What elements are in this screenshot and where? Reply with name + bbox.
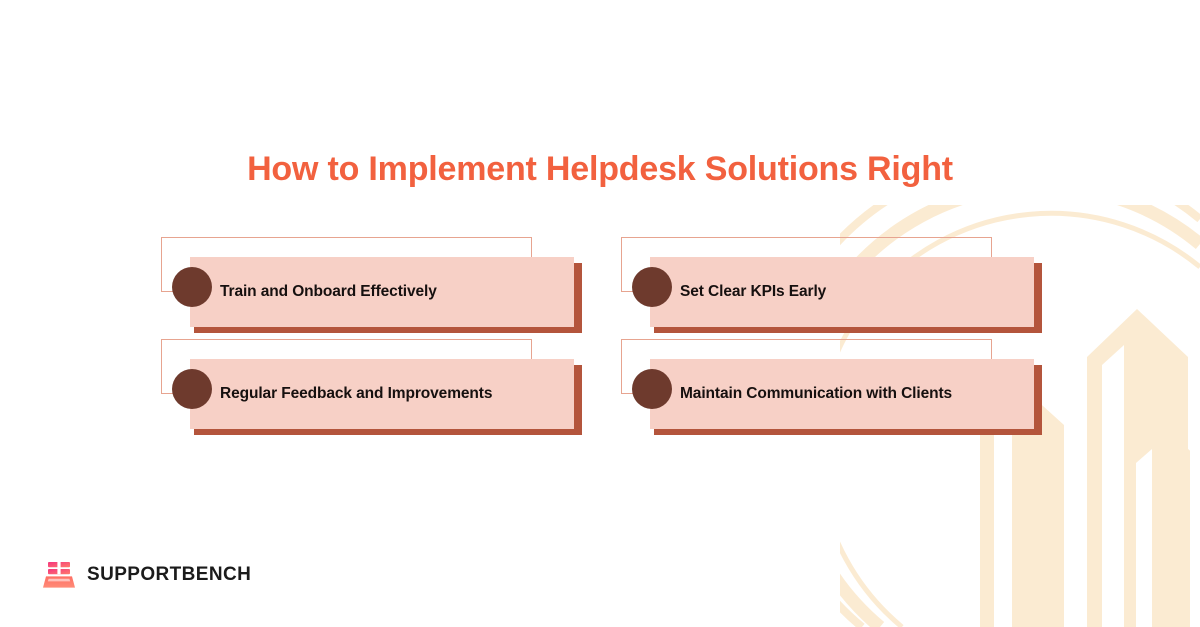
card-label: Set Clear KPIs Early [680, 257, 826, 327]
card-label: Maintain Communication with Clients [680, 359, 952, 429]
bench-icon [42, 560, 76, 590]
bullet-dot-icon [172, 369, 212, 409]
card-label: Regular Feedback and Improvements [220, 359, 492, 429]
logo-wordmark: SUPPORTBENCH [87, 564, 251, 586]
bullet-dot-icon [632, 267, 672, 307]
cards-grid: Train and Onboard Effectively Set Clear … [0, 0, 1200, 627]
page-title: How to Implement Helpdesk Solutions Righ… [0, 150, 1200, 189]
brand-logo[interactable]: SUPPORTBENCH [42, 560, 251, 590]
card-item[interactable]: Maintain Communication with Clients [621, 339, 1041, 435]
card-item[interactable]: Regular Feedback and Improvements [161, 339, 581, 435]
card-item[interactable]: Train and Onboard Effectively [161, 237, 581, 333]
card-item[interactable]: Set Clear KPIs Early [621, 237, 1041, 333]
card-label: Train and Onboard Effectively [220, 257, 437, 327]
bullet-dot-icon [632, 369, 672, 409]
bullet-dot-icon [172, 267, 212, 307]
